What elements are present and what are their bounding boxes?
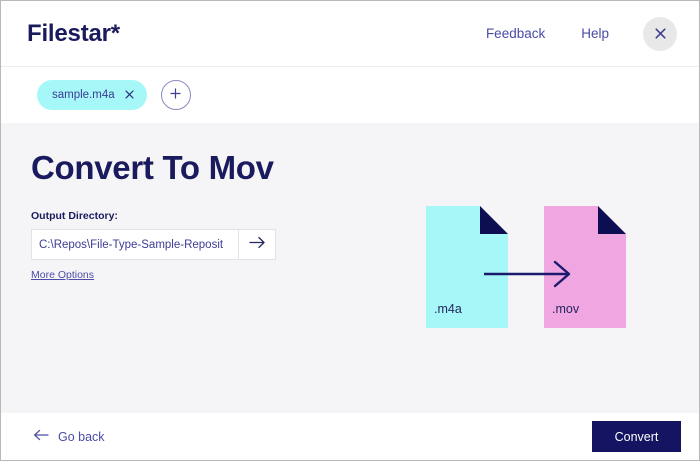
close-icon bbox=[655, 28, 666, 39]
convert-button[interactable]: Convert bbox=[592, 421, 681, 452]
header-nav-links: Feedback Help bbox=[486, 26, 609, 41]
arrow-right-icon bbox=[249, 236, 266, 254]
conversion-illustration: .m4a .mov bbox=[426, 206, 626, 328]
app-window: Filestar* Feedback Help sample.m4a bbox=[0, 0, 700, 461]
file-chip-remove-icon[interactable] bbox=[125, 89, 134, 101]
target-file-extension: .mov bbox=[552, 302, 579, 316]
file-chip-label: sample.m4a bbox=[52, 89, 115, 101]
help-link[interactable]: Help bbox=[581, 26, 609, 41]
output-directory-input[interactable] bbox=[32, 230, 238, 259]
output-directory-row bbox=[31, 229, 276, 260]
page-title: Convert To Mov bbox=[31, 149, 699, 187]
app-footer: Go back Convert bbox=[1, 413, 699, 460]
app-brand-logo: Filestar* bbox=[27, 20, 120, 48]
feedback-link[interactable]: Feedback bbox=[486, 26, 545, 41]
source-file-extension: .m4a bbox=[434, 302, 462, 316]
add-file-button[interactable] bbox=[161, 80, 191, 110]
arrow-left-icon bbox=[33, 429, 49, 444]
app-header: Filestar* Feedback Help bbox=[1, 1, 699, 67]
plus-icon bbox=[169, 87, 182, 103]
output-directory-submit-button[interactable] bbox=[238, 230, 275, 259]
close-window-button[interactable] bbox=[643, 17, 677, 51]
conversion-arrow bbox=[484, 260, 574, 288]
more-options-link[interactable]: More Options bbox=[31, 269, 94, 281]
go-back-label: Go back bbox=[58, 430, 105, 444]
go-back-button[interactable]: Go back bbox=[33, 429, 105, 444]
file-chip-sample-m4a[interactable]: sample.m4a bbox=[37, 80, 147, 110]
file-chips-bar: sample.m4a bbox=[1, 67, 699, 123]
arrow-right-icon bbox=[484, 275, 574, 292]
main-content: Convert To Mov Output Directory: More Op… bbox=[1, 123, 699, 413]
